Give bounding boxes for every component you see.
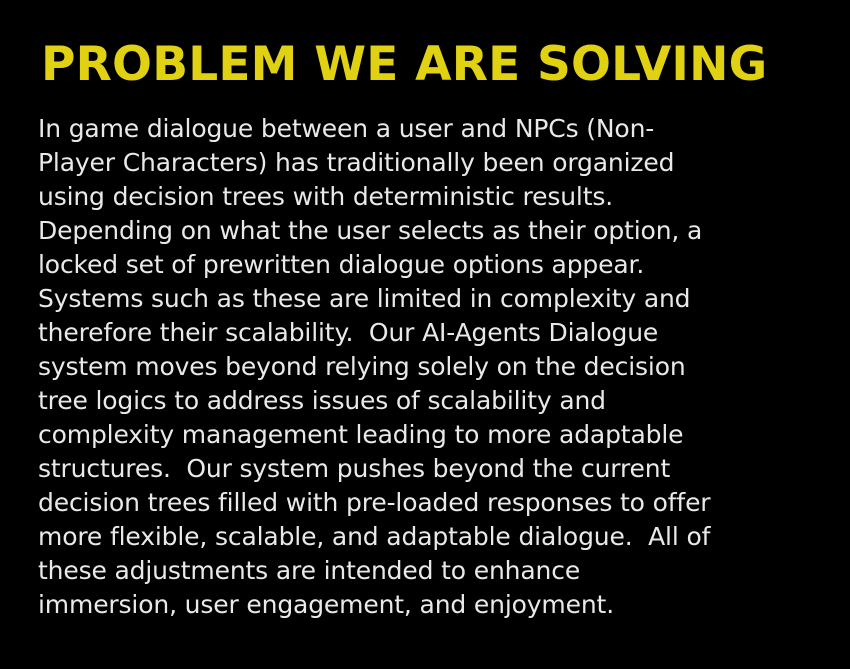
body-line: therefore their scalability. Our AI-Agen… (38, 316, 828, 350)
body-line: more flexible, scalable, and adaptable d… (38, 520, 828, 554)
body-line: using decision trees with deterministic … (38, 180, 828, 214)
page-title: PROBLEM WE ARE SOLVING (41, 40, 821, 90)
body-line: In game dialogue between a user and NPCs… (38, 112, 828, 146)
body-line: these adjustments are intended to enhanc… (38, 554, 828, 588)
body-line: decision trees filled with pre-loaded re… (38, 486, 828, 520)
body-line: immersion, user engagement, and enjoymen… (38, 588, 828, 622)
body-line: Depending on what the user selects as th… (38, 214, 828, 248)
body-line: structures. Our system pushes beyond the… (38, 452, 828, 486)
body-line: complexity management leading to more ad… (38, 418, 828, 452)
body-line: tree logics to address issues of scalabi… (38, 384, 828, 418)
presentation-slide: PROBLEM WE ARE SOLVING In game dialogue … (0, 0, 850, 669)
body-line: Systems such as these are limited in com… (38, 282, 828, 316)
body-line: Player Characters) has traditionally bee… (38, 146, 828, 180)
body-line: locked set of prewritten dialogue option… (38, 248, 828, 282)
body-paragraph: In game dialogue between a user and NPCs… (38, 112, 828, 622)
body-line: system moves beyond relying solely on th… (38, 350, 828, 384)
